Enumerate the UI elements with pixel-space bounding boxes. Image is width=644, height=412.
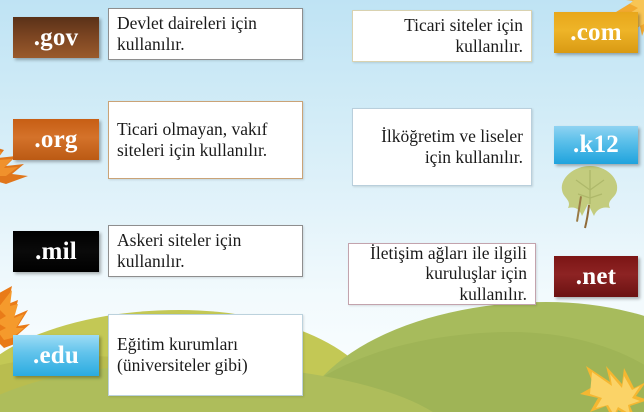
badge-gov[interactable]: .gov [13, 17, 99, 58]
description-net: İletişim ağları ile ilgili kuruluşlar iç… [348, 243, 536, 305]
entry-k12: .k12 [554, 126, 638, 164]
yellow-leaf-icon [578, 360, 644, 412]
entry-edu: .edu [13, 335, 99, 376]
badge-edu[interactable]: .edu [13, 335, 99, 376]
badge-net[interactable]: .net [554, 256, 638, 297]
badge-k12[interactable]: .k12 [554, 126, 638, 164]
description-gov-text: Devlet daireleri için kullanılır. [117, 13, 294, 54]
badge-mil[interactable]: .mil [13, 231, 99, 272]
description-org-text: Ticari olmayan, vakıf siteleri için kull… [117, 119, 294, 160]
description-gov: Devlet daireleri için kullanılır. [108, 8, 303, 60]
entry-gov: .gov [13, 17, 99, 58]
description-k12-text: İlköğretim ve liseler için kullanılır. [361, 126, 523, 167]
badge-org[interactable]: .org [13, 119, 99, 160]
entry-net: .net [554, 256, 638, 297]
description-net-text: İletişim ağları ile ilgili kuruluşlar iç… [357, 243, 527, 305]
description-edu-text: Eğitim kurumları (üniversiteler gibi) [117, 334, 294, 375]
green-leaf-icon [554, 160, 626, 236]
slide-canvas: .gov Devlet daireleri için kullanılır. .… [0, 0, 644, 412]
badge-com[interactable]: .com [554, 12, 638, 53]
entry-mil: .mil [13, 231, 99, 272]
description-com: Ticari siteler için kullanılır. [352, 10, 532, 62]
entry-org: .org [13, 119, 99, 160]
description-mil: Askeri siteler için kullanılır. [108, 225, 303, 277]
description-k12: İlköğretim ve liseler için kullanılır. [352, 108, 532, 186]
description-org: Ticari olmayan, vakıf siteleri için kull… [108, 101, 303, 179]
description-edu: Eğitim kurumları (üniversiteler gibi) [108, 314, 303, 396]
entry-com: .com [554, 12, 638, 53]
description-com-text: Ticari siteler için kullanılır. [361, 15, 523, 56]
description-mil-text: Askeri siteler için kullanılır. [117, 230, 294, 271]
